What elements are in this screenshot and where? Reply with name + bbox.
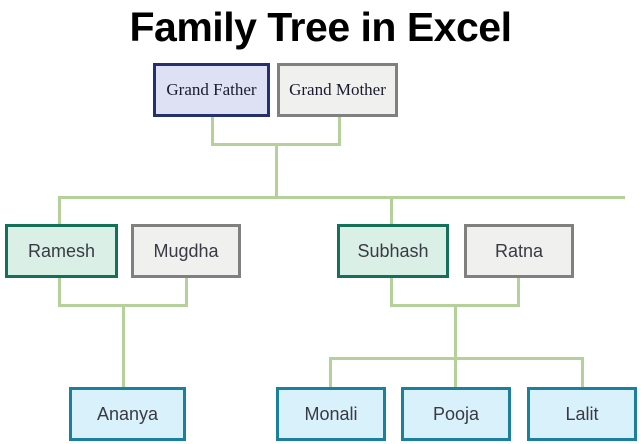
connector-ananya-drop — [122, 304, 125, 389]
connector-grandmother-drop — [338, 116, 341, 146]
connector-ramesh-drop — [58, 196, 61, 226]
connector-grandfather-drop — [211, 116, 214, 146]
node-ananya[interactable]: Ananya — [69, 387, 186, 441]
node-mugdha[interactable]: Mugdha — [131, 224, 241, 278]
node-ratna[interactable]: Ratna — [464, 224, 574, 278]
node-subhash[interactable]: Subhash — [337, 224, 449, 278]
node-ramesh[interactable]: Ramesh — [5, 224, 118, 278]
connector-ramesh-down — [58, 278, 61, 307]
connector-grandparents-stem — [275, 143, 278, 198]
connector-subhash-down — [390, 278, 393, 307]
connector-subhash-ratna-stem — [454, 304, 457, 359]
connector-monali-drop — [329, 357, 332, 389]
node-grand-father[interactable]: Grand Father — [153, 63, 270, 117]
node-grand-mother[interactable]: Grand Mother — [277, 63, 398, 117]
connector-lalit-drop — [581, 357, 584, 389]
node-pooja[interactable]: Pooja — [401, 387, 511, 441]
page-title: Family Tree in Excel — [0, 2, 641, 52]
connector-pooja-drop — [454, 357, 457, 389]
connector-subhash-drop — [390, 196, 393, 226]
connector-gen2-distribution-bar — [58, 196, 625, 199]
node-monali[interactable]: Monali — [276, 387, 386, 441]
connector-ratna-down — [517, 278, 520, 307]
connector-mugdha-down — [185, 278, 188, 307]
family-tree-diagram: Family Tree in Excel Grand Father Grand … — [0, 0, 641, 444]
node-lalit[interactable]: Lalit — [527, 387, 637, 441]
